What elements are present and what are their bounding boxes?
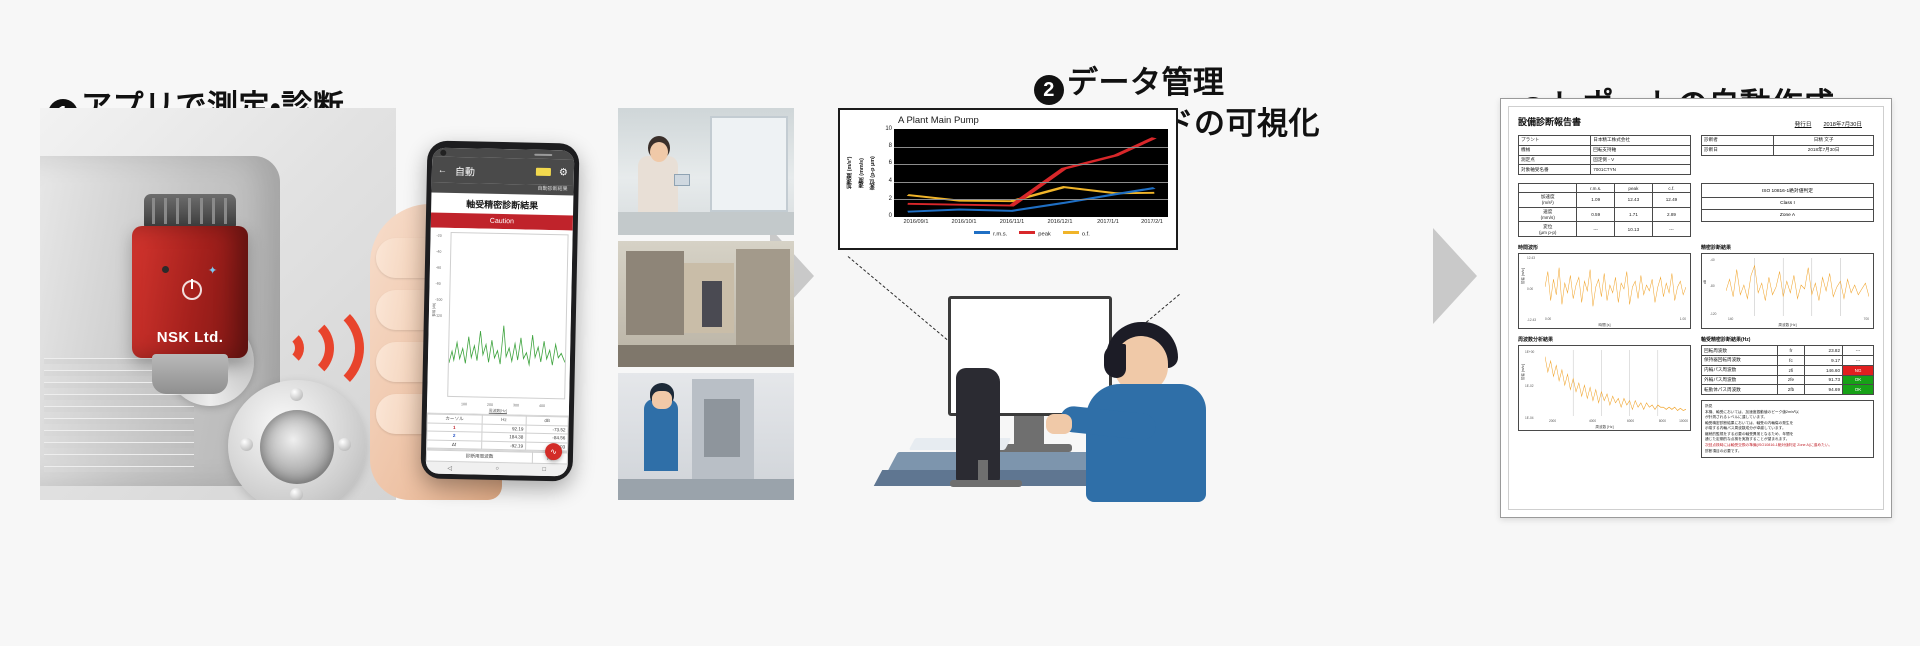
y-label-velocity: 速度 (mm/s) (858, 129, 869, 217)
trend-chart-card: A Plant Main Pump 加速度 (m/s²) 速度 (mm/s) 変… (838, 108, 1178, 250)
chart-y-axis-labels: 加速度 (m/s²) 速度 (mm/s) 変位 (p-p μm) (846, 129, 880, 217)
phone-screen[interactable]: ← 自動 ⚙ 自動診断結果 軸受精密診断結果 Caution 振幅 [dB] -… (426, 148, 575, 477)
chart-y-tick: 10 (882, 126, 892, 132)
chart-y-tick: 4 (882, 178, 892, 184)
spectrum-y-tick: 1E+00 (1525, 350, 1534, 354)
graph-x-tick: 200 (487, 402, 493, 406)
bearing-name: 外輪パス周波数 (1702, 375, 1778, 385)
inspector-value: 日精 文子 (1774, 136, 1874, 146)
waveform-y-tick: 12.43 (1527, 256, 1535, 260)
spectrum-col: 周波数分析結果 振幅 [m/s²] 1E+00 1E-02 1E-04 (1518, 329, 1691, 458)
chart-x-tick: 2016/11/1 (1000, 219, 1024, 225)
envelope-col: 精密診断結果 dB -40 -80 -120 140 (1701, 237, 1874, 329)
flow-arrow-2-icon (1433, 228, 1477, 324)
graph-y-tick: -40 (436, 250, 441, 254)
equipment-info-table: プラント 日本精工株式会社 機械 回転支持軸 測定点 固定側 - V 対象軸 (1518, 135, 1691, 175)
report-header: 設備診断報告書 発行日2018年7月30日 (1518, 115, 1874, 128)
info-value: 日本精工株式会社 (1591, 136, 1691, 146)
waveform-x-label: 時間 [s] (1519, 323, 1690, 328)
bearing-value: 91.73 (1805, 375, 1843, 385)
panel-measurement: ✦ NSK Ltd. (40, 108, 754, 500)
bearing-status: --- (1843, 356, 1874, 366)
measurement-table: r.m.s. peak c.f. 加速度 (m/s²) 1.09 12.43 1… (1518, 183, 1691, 237)
spectrum-section-label: 周波数分析結果 (1518, 336, 1691, 343)
waveform-section-label: 時間波形 (1518, 244, 1691, 251)
measure-col-cf: c.f. (1652, 184, 1690, 193)
report-charts-row-2: 周波数分析結果 振幅 [m/s²] 1E+00 1E-02 1E-04 (1518, 329, 1874, 458)
photo-engineer-inspection (618, 373, 794, 500)
bearing-value: 9.17 (1805, 356, 1843, 366)
chart-y-tick: 8 (882, 143, 892, 149)
nav-recent-icon[interactable]: □ (542, 467, 546, 473)
report-note: 所見 本機、軸受においては、加速度振動値のピーク値2m/s²以 が計測されるレベ… (1701, 400, 1874, 458)
usage-photo-strip (618, 108, 794, 500)
seated-analyst (1060, 314, 1250, 524)
bearing-symbol: fr (1777, 346, 1805, 356)
measure-unit: (m/s²) (1542, 200, 1554, 205)
bearing-name: 転動体パス周波数 (1702, 385, 1778, 395)
table-row: 診断日 2018年7月30日 (1702, 145, 1874, 155)
legend-item-peak: peak (1019, 231, 1051, 238)
report-sheet: 設備診断報告書 発行日2018年7月30日 プラント 日本精工株式会社 機械 回… (1508, 106, 1884, 510)
waveform-x-tick: 0.00 (1545, 317, 1551, 321)
measure-label: 加速度 (1541, 194, 1555, 199)
table-row: 変位 (μm p-p) --- 10.13 --- (1519, 222, 1691, 237)
spectrum-x-tick: 8000 (1659, 419, 1666, 423)
smartphone: ← 自動 ⚙ 自動診断結果 軸受精密診断結果 Caution 振幅 [dB] -… (420, 140, 579, 481)
measure-col-blank (1519, 184, 1577, 193)
analyst-hand (1046, 414, 1072, 434)
report-inspector-col: 診断者 日精 文子 診断日 2018年7月30日 (1701, 135, 1874, 175)
measure-peak: 12.43 (1614, 192, 1652, 207)
bearing-symbol: zfi (1777, 365, 1805, 375)
chart-x-tick: 2016/09/1 (904, 219, 929, 225)
bearing-name: 内輪パス周波数 (1702, 365, 1778, 375)
machine-photo: ✦ NSK Ltd. (40, 108, 396, 500)
envelope-y-tick: -120 (1710, 312, 1716, 316)
chart-y-tick: 6 (882, 160, 892, 166)
section-2-title-line1: データ管理 (1067, 65, 1225, 100)
iso-zone: Zone A (1702, 209, 1873, 221)
table-header-row: r.m.s. peak c.f. (1519, 184, 1691, 193)
graph-x-tick: 100 (461, 402, 467, 406)
spectrum-x-label: 周波数 [Hz] (1519, 425, 1690, 430)
chart-plot-area (894, 129, 1168, 217)
spectrum-trace (448, 233, 567, 398)
measure-label: 変位 (1543, 224, 1552, 229)
table-row: 回転周波数 fr 23.82 --- (1702, 346, 1874, 356)
iso-header: ISO 10816-1絶対値判定 (1702, 184, 1873, 198)
nav-back-icon[interactable]: ◁ (447, 464, 452, 471)
iso-judgement-box: ISO 10816-1絶対値判定 Class I Zone A (1701, 183, 1874, 222)
graph-y-tick: -20 (437, 234, 442, 238)
envelope-y-label: dB (1703, 280, 1707, 284)
measure-unit: (μm p-p) (1539, 230, 1556, 235)
graph-x-tick: 300 (513, 403, 519, 407)
graph-plot-area (447, 232, 568, 399)
report-title: 設備診断報告書 (1518, 115, 1581, 128)
monitor-stand (1014, 416, 1044, 446)
measure-unit: (mm/s) (1541, 215, 1555, 220)
table-row: 外輪パス周波数 zfe 91.73 OK (1702, 375, 1874, 385)
measure-rms: 0.59 (1577, 207, 1614, 222)
report-top-row: プラント 日本精工株式会社 機械 回転支持軸 測定点 固定側 - V 対象軸 (1518, 135, 1874, 175)
table-row: 保持器回転周波数 fc 9.17 --- (1702, 356, 1874, 366)
waveform-y-label: 振幅 [m/s²] (1520, 268, 1525, 284)
panel-report: 設備診断報告書 発行日2018年7月30日 プラント 日本精工株式会社 機械 回… (1500, 98, 1892, 518)
sensor-cap (144, 194, 236, 228)
issue-value: 2018年7月30日 (1823, 122, 1862, 128)
table-row: 診断者 日精 文子 (1702, 136, 1874, 146)
spectrum-y-label: 振幅 [m/s²] (1520, 364, 1525, 380)
y-label-displacement: 変位 (p-p μm) (869, 129, 880, 217)
info-key: 対象軸受名番 (1519, 165, 1591, 175)
legend-item-rms: r.m.s. (974, 231, 1007, 238)
wireless-signal-icon (268, 288, 378, 408)
envelope-section-label: 精密診断結果 (1701, 244, 1874, 251)
bearing-symbol: 2fb (1777, 385, 1805, 395)
spectrum-x-tick: 4000 (1589, 419, 1596, 423)
graph-x-tick: 400 (539, 403, 545, 407)
bearing-name: 回転周波数 (1702, 346, 1778, 356)
graph-y-tick: -80 (436, 282, 441, 286)
speaker-grill (534, 154, 552, 156)
bearing-diagnosis-table: 回転周波数 fr 23.82 --- 保持器回転周波数 fc 9.17 --- (1701, 345, 1874, 395)
chart-x-tick: 2016/12/1 (1048, 219, 1073, 225)
table-row: 対象軸受名番 7001CTYN (1519, 165, 1691, 175)
measure-peak: 1.71 (1614, 207, 1652, 222)
measure-label: 速度 (1543, 209, 1552, 214)
inspector-key: 診断者 (1702, 136, 1774, 146)
sensor-body: ✦ NSK Ltd. (132, 226, 248, 358)
table-row: 測定点 固定側 - V (1519, 155, 1691, 165)
spectrum-graph[interactable]: 振幅 [dB] -20 -40 -60 -80 -100 -120 100 (427, 228, 573, 415)
bearing-status-ok: OK (1843, 375, 1874, 385)
envelope-y-tick: -40 (1710, 258, 1715, 262)
analyst-torso (1086, 384, 1206, 502)
info-value: 固定側 - V (1591, 155, 1691, 165)
spectrum-chart: 振幅 [m/s²] 1E+00 1E-02 1E-04 2000 4000 (1518, 345, 1691, 431)
bearing-status: --- (1843, 346, 1874, 356)
graph-y-tick: -60 (436, 266, 441, 270)
note-line-7: 診断項目の必要です。 (1705, 449, 1870, 455)
info-key: プラント (1519, 136, 1591, 146)
spectrum-y-tick: 1E-02 (1525, 384, 1534, 388)
measure-col-rms: r.m.s. (1577, 184, 1614, 193)
chart-legend: r.m.s. peak o.f. (894, 231, 1170, 238)
sensor-brand-label: NSK Ltd. (132, 329, 248, 346)
chart-y-tick: 2 (882, 196, 892, 202)
status-led-icon (162, 266, 169, 273)
waveform-y-tick: 0.00 (1527, 287, 1533, 291)
gear-icon[interactable]: ⚙ (559, 167, 568, 178)
analyst-sideburn (1104, 344, 1126, 378)
report-info-col: プラント 日本精工株式会社 機械 回転支持軸 測定点 固定側 - V 対象軸 (1518, 135, 1691, 175)
diagnosis-frequency-label: 診断用周波数 (426, 450, 533, 463)
envelope-x-tick: 700 (1864, 317, 1869, 321)
envelope-trace (1726, 258, 1869, 316)
envelope-chart: dB -40 -80 -120 140 700 周波数 (1701, 253, 1874, 329)
nav-home-icon[interactable]: ○ (495, 466, 499, 472)
envelope-y-tick: -80 (1710, 284, 1715, 288)
measure-col-peak: peak (1614, 184, 1652, 193)
nsk-vibration-sensor: ✦ NSK Ltd. (128, 194, 252, 394)
chart-series-lines (894, 129, 1168, 217)
spectrum-x-tick: 6000 (1627, 419, 1634, 423)
report-charts-row-1: 時間波形 振幅 [m/s²] 12.43 0.00 -12.43 0.00 1.… (1518, 237, 1874, 329)
iso-col: ISO 10816-1絶対値判定 Class I Zone A (1701, 183, 1874, 237)
battery-icon (536, 168, 551, 176)
measure-rms: --- (1577, 222, 1614, 237)
chart-y-tick: 0 (882, 213, 892, 219)
inspector-table: 診断者 日精 文子 診断日 2018年7月30日 (1701, 135, 1874, 156)
app-top-bar: ← 自動 ⚙ (432, 157, 575, 186)
measure-cf: 2.89 (1652, 207, 1690, 222)
report-measure-row: r.m.s. peak c.f. 加速度 (m/s²) 1.09 12.43 1… (1518, 183, 1874, 237)
front-camera-icon (440, 150, 446, 156)
spectrum-x-tick: 2000 (1549, 419, 1556, 423)
measure-cf: --- (1652, 222, 1690, 237)
inspector-value: 2018年7月30日 (1774, 145, 1874, 155)
measure-col: r.m.s. peak c.f. 加速度 (m/s²) 1.09 12.43 1… (1518, 183, 1691, 237)
measure-peak: 10.13 (1614, 222, 1652, 237)
report-issue-date: 発行日2018年7月30日 (1795, 120, 1874, 128)
envelope-x-label: 周波数 [Hz] (1702, 323, 1873, 328)
bearing-name: 保持器回転周波数 (1702, 356, 1778, 366)
waveform-chart: 振幅 [m/s²] 12.43 0.00 -12.43 0.00 1.00 時間… (1518, 253, 1691, 329)
app-mode-label: 自動 (455, 163, 475, 178)
bearing-value: 94.69 (1805, 385, 1843, 395)
waveform-x-tick: 1.00 (1680, 317, 1686, 321)
info-key: 機械 (1519, 145, 1591, 155)
photo-office-worker (618, 108, 794, 235)
workflow-infographic: 1アプリで測定・診断 2データ管理 トレンドの可視化 3レポートの自動作成 (0, 0, 1920, 646)
sensor-base (152, 354, 228, 394)
back-arrow-icon[interactable]: ← (438, 165, 447, 175)
bearing-table-caption: 軸受精密診断結果(Hz) (1701, 336, 1874, 343)
photo-factory-machine (618, 241, 794, 368)
spectrum-trace (1545, 350, 1686, 416)
iso-class: Class I (1702, 198, 1873, 209)
spectrum-x-tick: 10000 (1679, 419, 1688, 423)
bearing-symbol: zfe (1777, 375, 1805, 385)
chart-x-tick: 2016/10/1 (952, 219, 977, 225)
legend-item-of: o.f. (1063, 231, 1090, 238)
table-row: 内輪パス周波数 zfi 146.60 NG (1702, 365, 1874, 375)
bearing-value: 23.82 (1805, 346, 1843, 356)
y-label-acceleration: 加速度 (m/s²) (846, 129, 857, 217)
bearing-value: 146.60 (1805, 365, 1843, 375)
spectrum-y-tick: 1E-04 (1525, 416, 1534, 420)
chair-base (950, 480, 1022, 487)
waveform-y-tick: -12.43 (1527, 318, 1536, 322)
bluetooth-icon: ✦ (208, 264, 217, 277)
waveform-col: 時間波形 振幅 [m/s²] 12.43 0.00 -12.43 0.00 1.… (1518, 237, 1691, 329)
issue-label: 発行日 (1795, 122, 1812, 128)
power-icon[interactable] (182, 280, 202, 300)
measure-cf: 12.49 (1652, 192, 1690, 207)
table-row: 転動体パス周波数 2fb 94.69 OK (1702, 385, 1874, 395)
table-row: 速度 (mm/s) 0.59 1.71 2.89 (1519, 207, 1691, 222)
table-row: 機械 回転支持軸 (1519, 145, 1691, 155)
panel-data-management: A Plant Main Pump 加速度 (m/s²) 速度 (mm/s) 変… (838, 100, 1418, 520)
table-row: プラント 日本精工株式会社 (1519, 136, 1691, 146)
bearing-status-ng: NG (1843, 365, 1874, 375)
graph-y-tick: -100 (435, 298, 442, 302)
info-key: 測定点 (1519, 155, 1591, 165)
hand-holding-phone: ← 自動 ⚙ 自動診断結果 軸受精密診断結果 Caution 振幅 [dB] -… (370, 108, 610, 500)
chart-title: A Plant Main Pump (898, 115, 1170, 126)
inspector-key: 診断日 (1702, 145, 1774, 155)
waveform-trace (1545, 258, 1686, 316)
bearing-result-col: 軸受精密診断結果(Hz) 回転周波数 fr 23.82 --- 保持器回転周波数… (1701, 329, 1874, 458)
chart-x-tick: 2017/1/1 (1097, 219, 1119, 225)
graph-y-tick: -120 (435, 314, 442, 318)
bearing-symbol: fc (1777, 356, 1805, 366)
info-value: 7001CTYN (1591, 165, 1691, 175)
chart-x-tick: 2017/2/1 (1141, 219, 1163, 225)
bearing-status-ok: OK (1843, 385, 1874, 395)
envelope-x-tick: 140 (1728, 317, 1733, 321)
table-row: 加速度 (m/s²) 1.09 12.43 12.49 (1519, 192, 1691, 207)
measure-rms: 1.09 (1577, 192, 1614, 207)
cursor-hz: -92.19 (481, 441, 526, 450)
info-value: 回転支持軸 (1591, 145, 1691, 155)
